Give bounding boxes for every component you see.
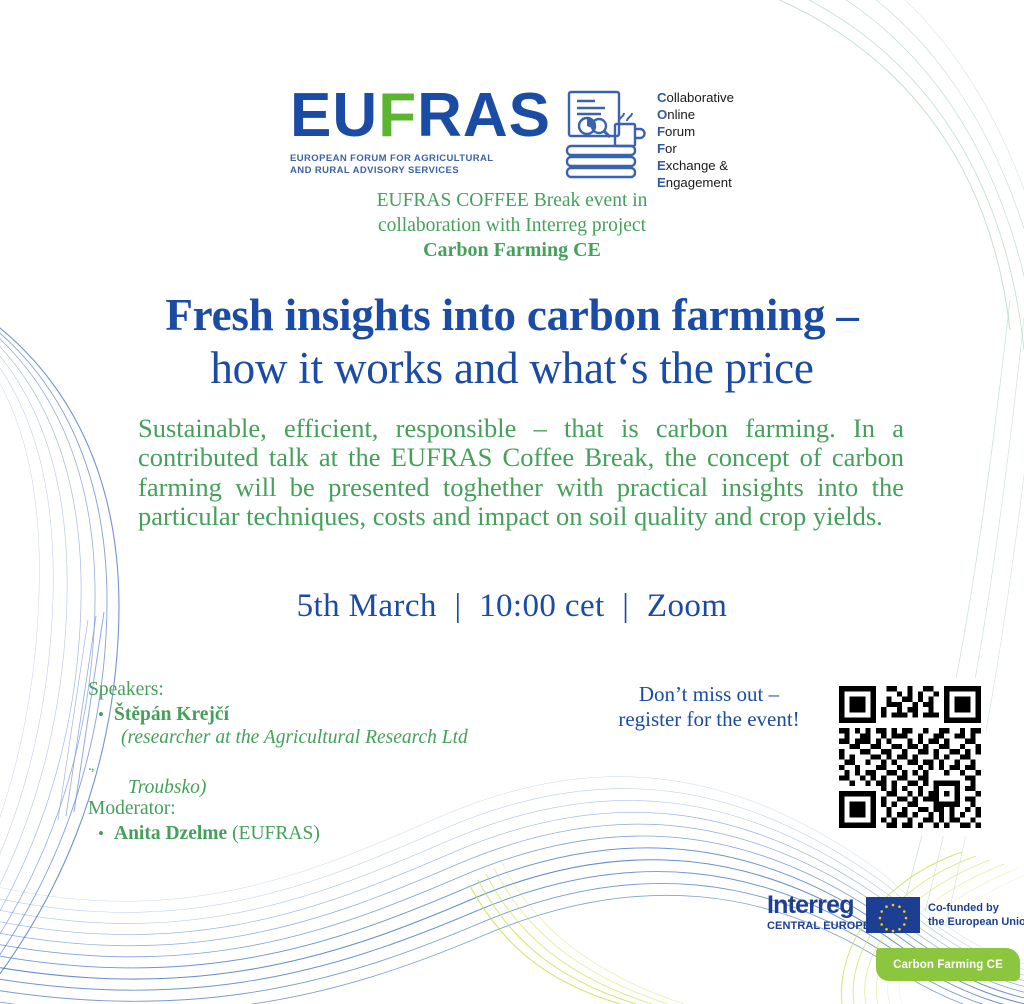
- register-call-to-action: Don’t miss out – register for the event!: [600, 682, 818, 732]
- title-line-2: how it works and what‘s the price: [0, 341, 1024, 395]
- event-date: 5th March: [297, 588, 437, 624]
- interreg-logo: Interreg CENTRAL EUROPE: [767, 893, 870, 933]
- speakers-label: Speakers:: [88, 678, 588, 701]
- title-line-1: Fresh insights into carbon farming –: [0, 290, 1024, 341]
- intro-paragraph: Sustainable, efficient, responsible – th…: [138, 414, 904, 531]
- cofe-item: Exchange &: [657, 158, 734, 175]
- bullet-icon: •: [88, 706, 114, 723]
- leaf-f-letter: F: [378, 81, 417, 150]
- event-platform: Zoom: [647, 588, 727, 624]
- cta-line-2: register for the event!: [600, 707, 818, 732]
- meta-separator: |: [445, 588, 470, 624]
- event-time: 10:00 cet: [479, 588, 604, 624]
- kicker-line-1: EUFRAS COFFEE Break event in: [0, 188, 1024, 213]
- speaker-name: Štěpán Krejčí: [114, 703, 229, 726]
- speaker-affiliation-continued: Troubsko): [128, 776, 588, 799]
- project-badge: Carbon Farming CE: [876, 948, 1020, 981]
- people-block: Speakers: • Štěpán Krejčí (researcher at…: [88, 678, 588, 845]
- cofe-item: For: [657, 141, 734, 158]
- eufras-wordmark: EUFRAS EUROPEAN FORUM FOR AGRICULTURAL A…: [290, 86, 551, 178]
- cta-line-1: Don’t miss out –: [600, 682, 818, 707]
- bullet-icon: •: [88, 825, 114, 842]
- eufras-wordmark-text: EUFRAS: [290, 86, 551, 146]
- interreg-subtitle: CENTRAL EUROPE: [767, 920, 870, 933]
- kicker-project-name: Carbon Farming CE: [0, 238, 1024, 264]
- books-monitor-coffee-icon: [561, 88, 647, 185]
- list-item: • Anita Dzelme (EUFRAS): [88, 822, 588, 845]
- eufras-logo: EUFRAS EUROPEAN FORUM FOR AGRICULTURAL A…: [0, 86, 1024, 192]
- project-badge-label: Carbon Farming CE: [893, 959, 1003, 971]
- eu-flag-icon: [866, 897, 920, 933]
- cofe-item: Collaborative: [657, 90, 734, 107]
- speaker-affiliation: (researcher at the Agricultural Research…: [121, 726, 588, 749]
- page-title: Fresh insights into carbon farming – how…: [0, 290, 1024, 395]
- moderator-org-text: (EUFRAS): [232, 823, 320, 844]
- meta-separator: |: [613, 588, 638, 624]
- moderator-name: Anita Dzelme: [114, 823, 227, 844]
- cofe-acronym-list: Collaborative Online Forum For Exchange …: [657, 90, 734, 192]
- event-kicker: EUFRAS COFFEE Break event in collaborati…: [0, 188, 1024, 264]
- registration-qr-code[interactable]: [834, 678, 986, 836]
- eu-funding-text: Co-funded by the European Union: [928, 901, 1024, 929]
- moderator-label: Moderator:: [88, 797, 588, 820]
- kicker-line-2: collaboration with Interreg project: [0, 213, 1024, 238]
- cofe-item: Online: [657, 107, 734, 124]
- cofe-item: Forum: [657, 124, 734, 141]
- interreg-wordmark: Interreg: [767, 893, 870, 918]
- list-item: • Štěpán Krejčí: [88, 703, 588, 726]
- eu-funding-emblem: Co-funded by the European Union: [866, 897, 1024, 933]
- event-details: 5th March | 10:00 cet | Zoom: [0, 588, 1024, 625]
- stray-quote-mark: .,: [88, 759, 588, 774]
- eufras-tagline: EUROPEAN FORUM FOR AGRICULTURAL AND RURA…: [290, 153, 551, 178]
